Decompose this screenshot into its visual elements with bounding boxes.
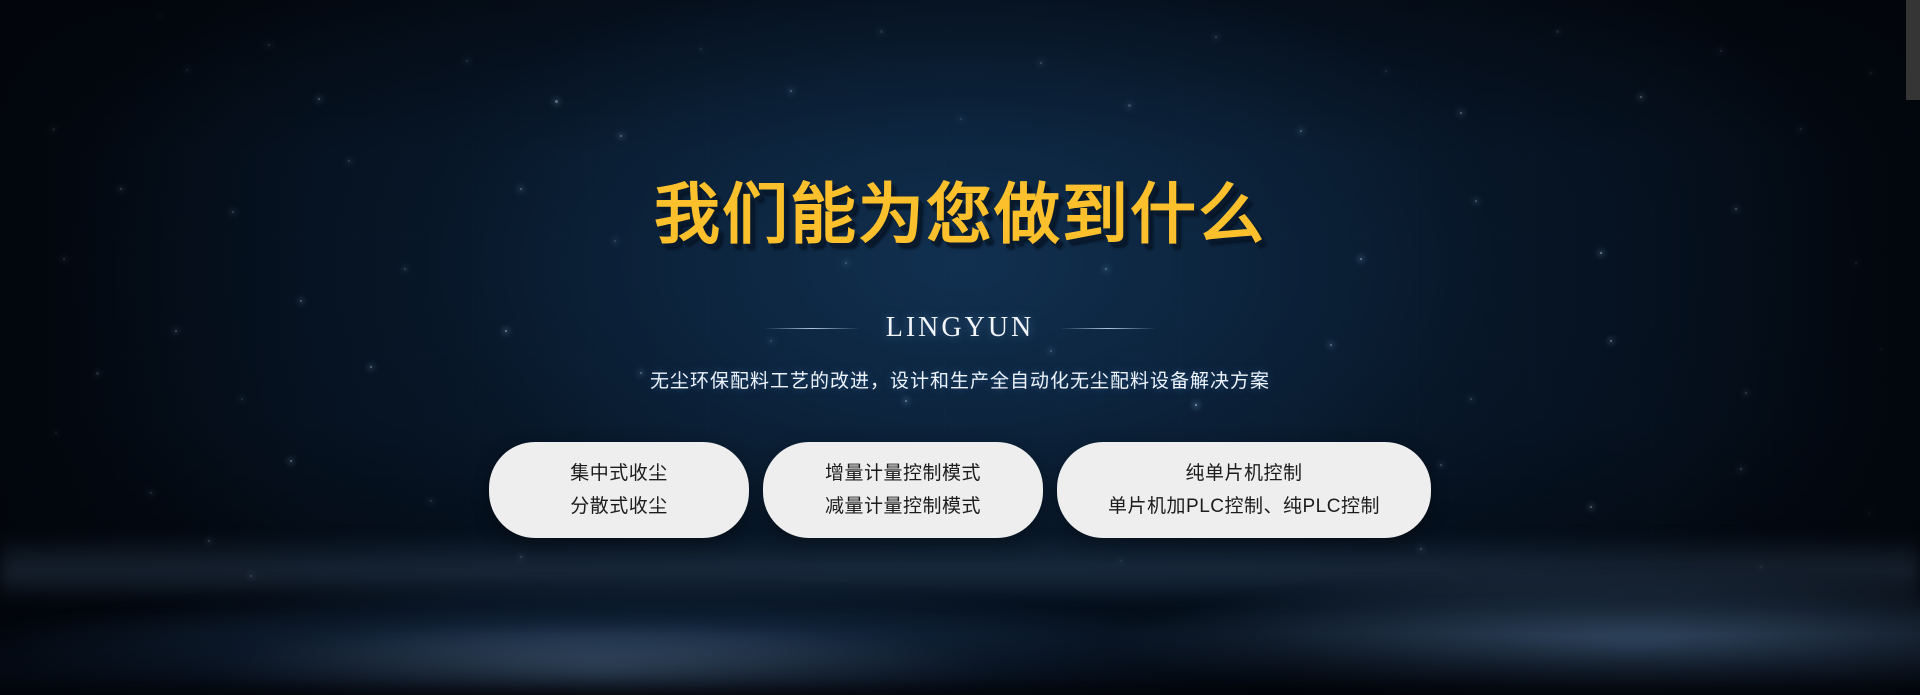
feature-pill-dust-collection[interactable]: 集中式收尘 分散式收尘 (489, 442, 749, 538)
feature-pill-control-system[interactable]: 纯单片机控制 单片机加PLC控制、纯PLC控制 (1057, 442, 1431, 538)
banner-headline: 我们能为您做到什么 (654, 182, 1266, 248)
banner-subtitle: 无尘环保配料工艺的改进，设计和生产全自动化无尘配料设备解决方案 (650, 366, 1270, 393)
feature-pill-metering-mode[interactable]: 增量计量控制模式 减量计量控制模式 (763, 442, 1043, 538)
pill-line-secondary: 减量计量控制模式 (825, 496, 981, 518)
brand-name: LINGYUN (886, 312, 1035, 344)
banner-content: 我们能为您做到什么 LINGYUN 无尘环保配料工艺的改进，设计和生产全自动化无… (0, 0, 1920, 695)
brand-row: LINGYUN (764, 312, 1157, 344)
brand-rule-right (1060, 328, 1156, 329)
brand-rule-left (764, 328, 860, 329)
feature-pill-list: 集中式收尘 分散式收尘 增量计量控制模式 减量计量控制模式 纯单片机控制 单片机… (489, 442, 1431, 538)
scrollbar-strip[interactable] (1906, 0, 1920, 100)
pill-line-primary: 集中式收尘 (570, 463, 668, 485)
pill-line-primary: 增量计量控制模式 (825, 463, 981, 485)
pill-line-primary: 纯单片机控制 (1185, 463, 1302, 485)
pill-line-secondary: 单片机加PLC控制、纯PLC控制 (1108, 496, 1380, 518)
hero-banner: 我们能为您做到什么 LINGYUN 无尘环保配料工艺的改进，设计和生产全自动化无… (0, 0, 1920, 695)
pill-line-secondary: 分散式收尘 (570, 496, 668, 518)
